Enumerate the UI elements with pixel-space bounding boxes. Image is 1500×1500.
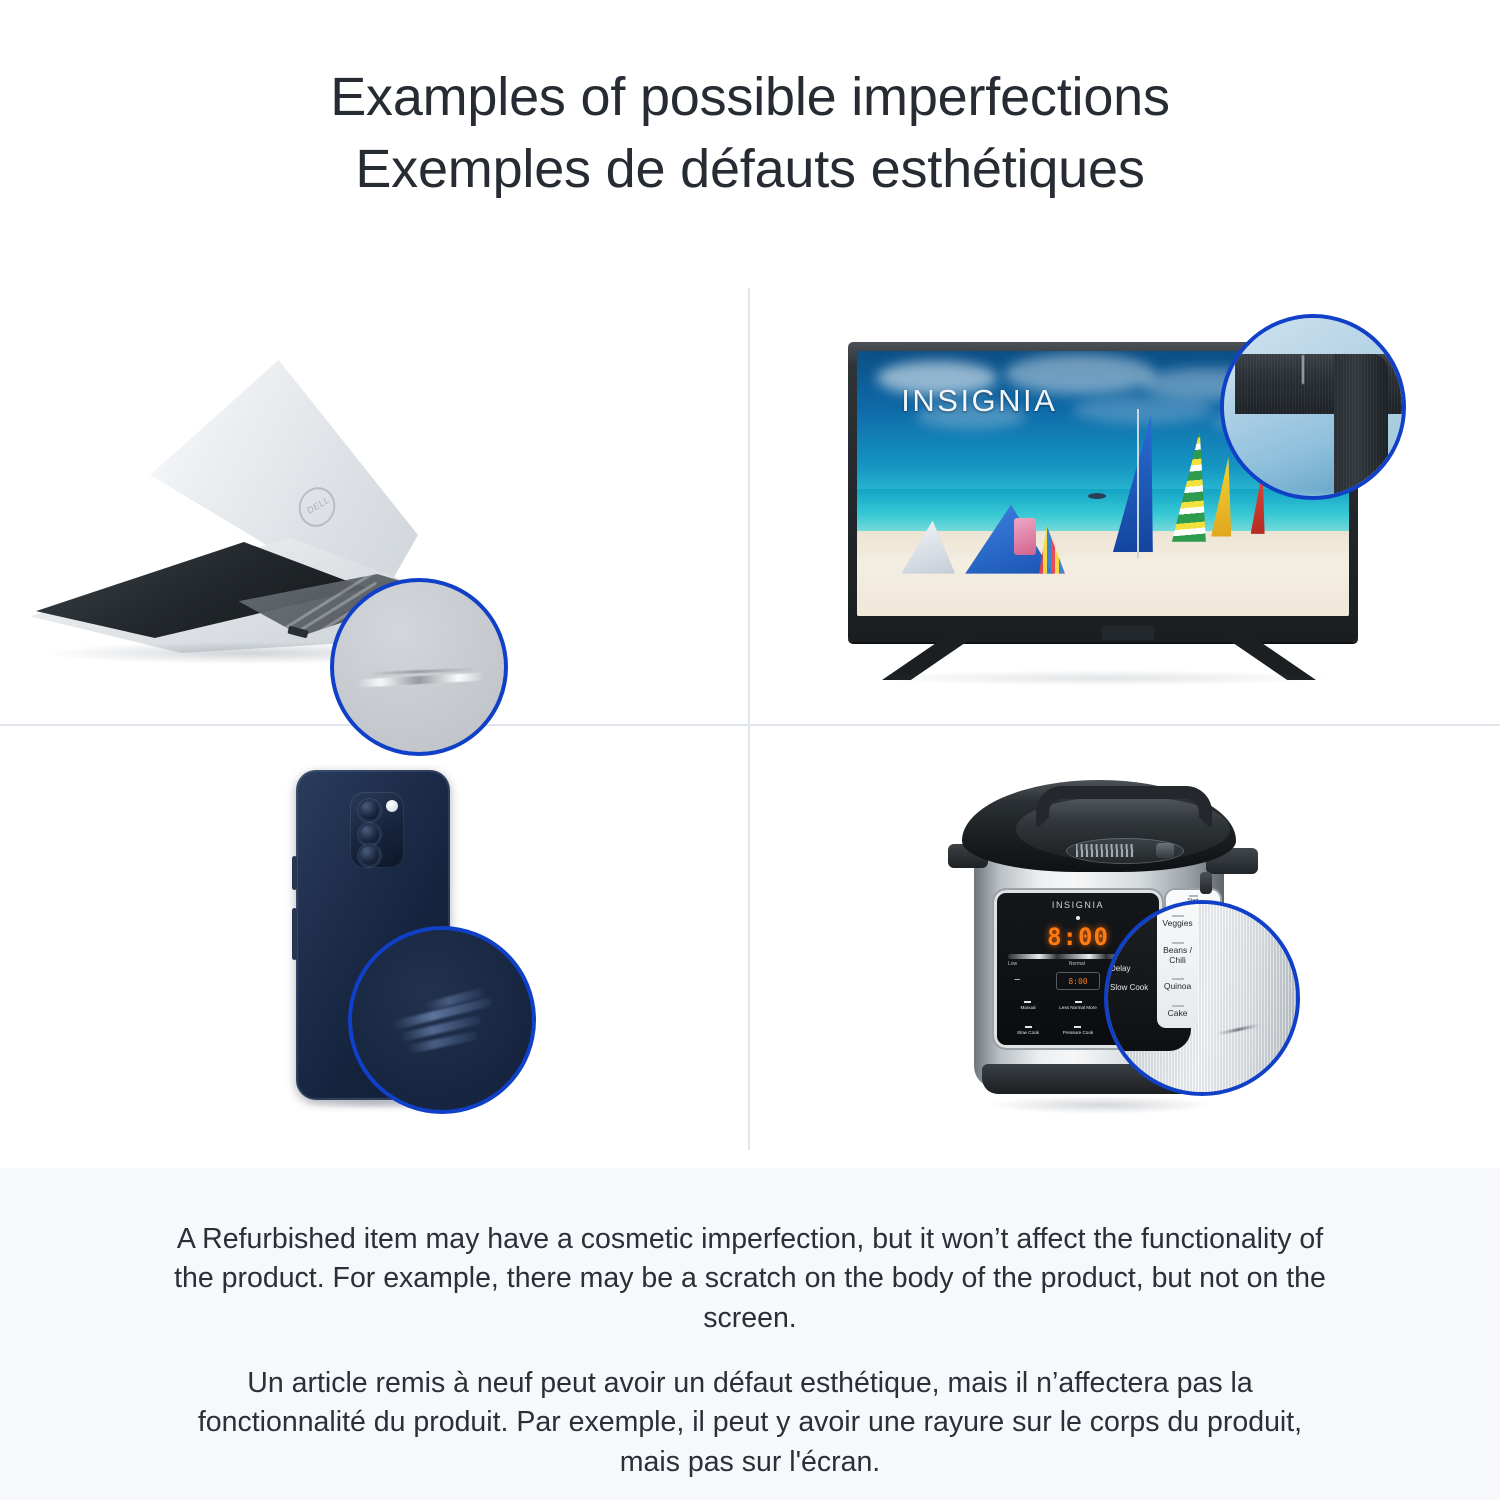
camera-flash-icon xyxy=(386,800,398,812)
tv-magnifier-circle xyxy=(1220,314,1406,500)
cooker-indicator-led xyxy=(1076,916,1080,920)
tv-sailboat-pink-accent xyxy=(1014,518,1036,555)
cell-television: INSIGNIA xyxy=(752,270,1500,722)
tv-mast-1 xyxy=(1137,409,1139,557)
page-title-fr: Exemples de défauts esthétiques xyxy=(355,134,1144,206)
cooker-magnified-button[interactable]: Veggies xyxy=(1157,913,1198,929)
pressure-cooker-illustration: INSIGNIA 8:00 Low Normal More − 8:00 + xyxy=(752,726,1500,1178)
cooker-shadow xyxy=(986,1096,1216,1114)
television-illustration: INSIGNIA xyxy=(752,270,1500,722)
footer-paragraph-fr: Un article remis à neuf peut avoir un dé… xyxy=(170,1364,1330,1482)
page-header: Examples of possible imperfections Exemp… xyxy=(0,0,1500,270)
tv-shadow xyxy=(868,670,1338,686)
cooker-lid-handle xyxy=(1036,786,1212,830)
cooker-led-display: 8:00 xyxy=(1045,924,1111,950)
examples-grid: INSIGNIA xyxy=(0,270,1500,1168)
cooker-panel-button[interactable]: Slow Cook xyxy=(1004,1019,1052,1042)
pressure-label-low: Low xyxy=(1008,961,1017,967)
pressure-label-normal: Normal xyxy=(1069,961,1085,967)
cooker-magnified-button[interactable]: Beans / Chili xyxy=(1157,940,1198,966)
tv-scratch-icon xyxy=(1302,355,1304,383)
footer-paragraph-en: A Refurbished item may have a cosmetic i… xyxy=(170,1220,1330,1338)
camera-lens-icon xyxy=(358,799,381,822)
cooker-magnified-side-label: Slow Cook xyxy=(1108,983,1149,992)
tv-screen-logo: INSIGNIA xyxy=(901,383,1057,419)
tv-magnified-bezel-right xyxy=(1334,354,1387,500)
tv-distant-boat xyxy=(1088,493,1106,499)
refurbished-imperfections-infographic: Examples of possible imperfections Exemp… xyxy=(0,0,1500,1500)
camera-lens-icon xyxy=(358,844,381,867)
cooker-minus-button[interactable]: − xyxy=(1014,974,1020,986)
tv-stand-column xyxy=(1102,626,1154,640)
cooker-panel-button[interactable]: Less Normal More xyxy=(1054,994,1102,1017)
cooker-lid-pattern-icon xyxy=(1076,844,1134,857)
cooker-steam-valve-icon xyxy=(1156,843,1174,858)
cooker-lid-plate xyxy=(1066,838,1184,864)
cooker-panel-button[interactable]: Manual xyxy=(1004,994,1052,1017)
cooker-magnifier-circle: Delay Slow Cook Veggies Beans / Chili Qu… xyxy=(1104,900,1300,1096)
phone-power-button xyxy=(292,908,297,960)
cooker-lid xyxy=(962,780,1236,872)
cooker-magnified-button[interactable]: Quinoa xyxy=(1157,976,1198,992)
cell-laptop xyxy=(0,270,748,722)
cooker-magnified-side-label: Delay xyxy=(1108,964,1149,973)
phone-volume-button xyxy=(292,856,297,890)
page-title-en: Examples of possible imperfections xyxy=(330,62,1170,134)
cooker-magnified-button[interactable]: Cake xyxy=(1157,1003,1198,1019)
page-footer: A Refurbished item may have a cosmetic i… xyxy=(0,1168,1500,1500)
grid-vertical-divider xyxy=(748,288,750,1150)
phone-magnifier-circle xyxy=(348,926,536,1114)
cooker-magnified-side-labels: Delay Slow Cook xyxy=(1108,964,1149,992)
laptop-illustration xyxy=(0,270,748,722)
cell-pressure-cooker: INSIGNIA 8:00 Low Normal More − 8:00 + xyxy=(752,726,1500,1178)
smartphone-illustration xyxy=(0,726,748,1178)
cooker-panel-button[interactable]: Pressure Cook xyxy=(1054,1019,1102,1042)
cell-smartphone xyxy=(0,726,748,1178)
phone-camera-module xyxy=(350,792,404,868)
cooker-magnified-button-column: Veggies Beans / Chili Quinoa Cake xyxy=(1157,904,1198,1028)
camera-lens-icon xyxy=(358,823,381,846)
cooker-sub-display: 8:00 xyxy=(1056,972,1100,990)
cooker-lid-latch xyxy=(1200,872,1212,894)
